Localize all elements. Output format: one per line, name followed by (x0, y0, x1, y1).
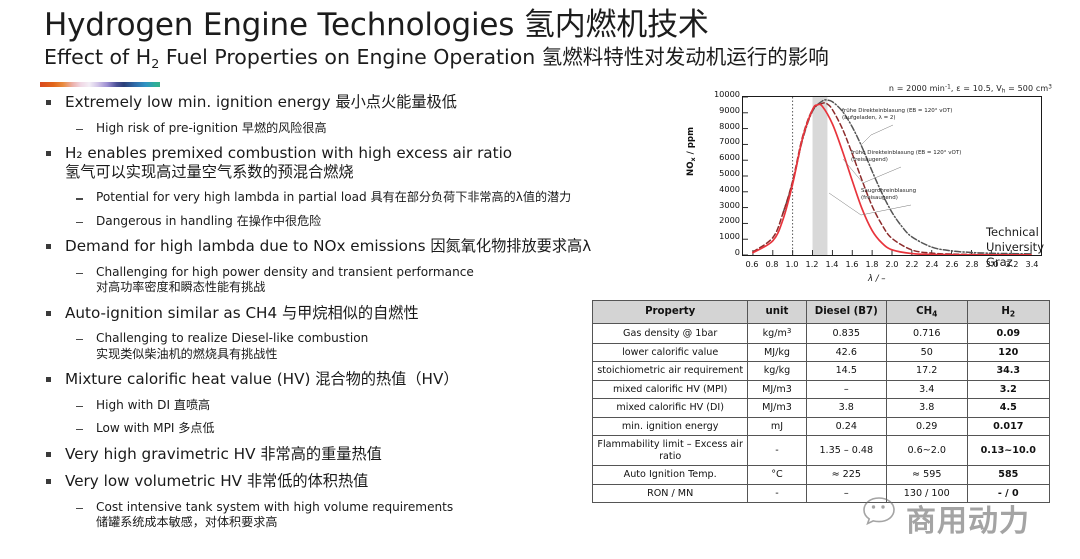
table-col-header: Property (593, 301, 748, 324)
cell-diesel: 0.835 (806, 324, 886, 343)
x-tick-label: 2.4 (925, 259, 938, 269)
cell-diesel: – (806, 484, 886, 503)
cell-diesel: ≈ 225 (806, 466, 886, 485)
annotation-line-1: frühe Direkteinblasung (EB = 120° vOT) (851, 150, 961, 157)
cell-h2: 3.2 (967, 380, 1049, 399)
tu-graz-line: Technical (986, 225, 1044, 240)
bullet-text-cn: 氢气可以实现高过量空气系数的预混合燃烧 (65, 163, 354, 181)
cell-h2: 585 (967, 466, 1049, 485)
table-col-header: Diesel (B7) (806, 301, 886, 324)
table-col-header: CH4 (886, 301, 967, 324)
x-tick-label: 1.6 (845, 259, 858, 269)
bullet-text: Very low volumetric HV 非常低的体积热值 (65, 472, 368, 490)
cell-unit: °C (748, 466, 806, 485)
bullet-item-l2: Low with MPI 多点低 (40, 421, 650, 436)
chart-operating-params: n = 2000 min-1, ε = 10.5, Vh = 500 cm3 (889, 84, 1052, 95)
cell-diesel: 1.35 – 0.48 (806, 436, 886, 466)
bullet-text: Dangerous in handling 在操作中很危险 (96, 214, 321, 228)
y-tick-label: 9000 (719, 105, 740, 115)
cell-h2: 0.017 (967, 417, 1049, 436)
cell-ch4: 17.2 (886, 362, 967, 381)
table-row: Gas density @ 1barkg/m30.8350.7160.09 (593, 324, 1050, 343)
annotation-leader-line (861, 125, 893, 145)
title-block: Hydrogen Engine Technologies 氢内燃机技术 Effe… (44, 8, 1044, 71)
annotation-line-1: frühe Direkteinblasung (EB = 120° vOT) (842, 108, 952, 115)
x-tick-label: 0.6 (745, 259, 758, 269)
cell-unit: - (748, 484, 806, 503)
x-tick-label: 2.8 (965, 259, 978, 269)
x-tick-label: 1.0 (785, 259, 798, 269)
bullet-item-l1: Demand for high lambda due to NOx emissi… (40, 237, 650, 256)
bullet-text-cn: 储罐系统成本敏感，对体积要求高 (96, 515, 277, 529)
cell-unit: MJ/m3 (748, 380, 806, 399)
bullet-text: Very high gravimetric HV 非常高的重量热值 (65, 445, 382, 463)
bullet-item-l1: Very high gravimetric HV 非常高的重量热值 (40, 445, 650, 464)
chart-y-axis-label: NOx / ppm (686, 127, 697, 176)
chart-x-axis-label: λ / – (868, 274, 886, 284)
cell-diesel: 3.8 (806, 399, 886, 418)
bullet-item-l2: Cost intensive tank system with high vol… (40, 500, 650, 531)
cell-diesel: 0.24 (806, 417, 886, 436)
cell-property: mixed calorific HV (MPI) (593, 380, 748, 399)
y-tick-label: 10000 (714, 89, 740, 99)
cell-diesel: 14.5 (806, 362, 886, 381)
bullet-text-cn: 对高功率密度和瞬态性能有挑战 (96, 280, 265, 294)
cell-ch4: 0.29 (886, 417, 967, 436)
y-tick-label: 6000 (719, 152, 740, 162)
bullet-text: H₂ enables premixed combustion with high… (65, 144, 512, 162)
table-row: Flammability limit – Excess air ratio-1.… (593, 436, 1050, 466)
y-label-pre: NO (686, 162, 696, 177)
bullet-text: Cost intensive tank system with high vol… (96, 500, 453, 514)
bullet-item-l1: Very low volumetric HV 非常低的体积热值 (40, 472, 650, 491)
bullet-text: High with DI 直喷高 (96, 398, 210, 412)
cell-h2: 120 (967, 343, 1049, 362)
annotation-line-2: (freisaugend) (861, 195, 916, 202)
bullet-text: High risk of pre-ignition 早燃的风险很高 (96, 121, 327, 135)
bullet-text: Extremely low min. ignition energy 最小点火能… (65, 93, 457, 111)
bullet-list: Extremely low min. ignition energy 最小点火能… (40, 93, 650, 539)
y-tick-label: 7000 (719, 136, 740, 146)
cell-diesel: 42.6 (806, 343, 886, 362)
page-subtitle: Effect of H2 Fuel Properties on Engine O… (44, 45, 1044, 71)
bullet-item-l2: Challenging for high power density and t… (40, 265, 650, 296)
cell-h2: 34.3 (967, 362, 1049, 381)
cell-h2: 0.13~10.0 (967, 436, 1049, 466)
bullet-text: Demand for high lambda due to NOx emissi… (65, 237, 591, 255)
y-tick-label: 4000 (719, 184, 740, 194)
chart-annotation-2: Saugrohreinblasung(freisaugend) (861, 188, 916, 203)
nox-lambda-chart: n = 2000 min-1, ε = 10.5, Vh = 500 cm3 N… (690, 84, 1058, 284)
subtitle-post: Fuel Properties on Engine Operation 氢燃料特… (159, 45, 828, 69)
shaded-lambda-band (813, 97, 828, 255)
accent-gradient-bar (40, 82, 160, 87)
x-tick-label: 1.2 (805, 259, 818, 269)
cell-unit: MJ/kg (748, 343, 806, 362)
bullet-item-l2: Dangerous in handling 在操作中很危险 (40, 214, 650, 229)
cell-h2: 4.5 (967, 399, 1049, 418)
chart-y-ticks: 1000090008000700060005000400030002000100… (700, 94, 740, 254)
cell-diesel: – (806, 380, 886, 399)
y-tick-label: 8000 (719, 121, 740, 131)
cell-property: stoichiometric air requirement (593, 362, 748, 381)
cell-unit: kg/m3 (748, 324, 806, 343)
table-col-header: unit (748, 301, 806, 324)
bullet-item-l2: High risk of pre-ignition 早燃的风险很高 (40, 121, 650, 136)
cell-property: Auto Ignition Temp. (593, 466, 748, 485)
cell-ch4: 3.8 (886, 399, 967, 418)
tu-graz-line: Graz (986, 255, 1044, 270)
bullet-text: Challenging for high power density and t… (96, 265, 474, 279)
x-tick-label: 2.6 (945, 259, 958, 269)
table-col-header: H2 (967, 301, 1049, 324)
table-row: RON / MN-–130 / 100- / 0 (593, 484, 1050, 503)
chart-annotation-0: frühe Direkteinblasung (EB = 120° vOT)(a… (842, 108, 952, 123)
x-tick-label: 1.8 (865, 259, 878, 269)
cell-property: Flammability limit – Excess air ratio (593, 436, 748, 466)
fuel-properties-table: PropertyunitDiesel (B7)CH4H2 Gas density… (592, 300, 1050, 503)
bullet-text-cn: 实现类似柴油机的燃烧具有挑战性 (96, 347, 277, 361)
cell-property: min. ignition energy (593, 417, 748, 436)
table-row: mixed calorific HV (MPI)MJ/m3–3.43.2 (593, 380, 1050, 399)
table-row: mixed calorific HV (DI)MJ/m33.83.84.5 (593, 399, 1050, 418)
bullet-item-l1: Extremely low min. ignition energy 最小点火能… (40, 93, 650, 112)
cell-property: lower calorific value (593, 343, 748, 362)
bullet-item-l1: Auto-ignition similar as CH4 与甲烷相似的自燃性 (40, 304, 650, 323)
cell-ch4: 130 / 100 (886, 484, 967, 503)
table-row: lower calorific valueMJ/kg42.650120 (593, 343, 1050, 362)
cell-unit: - (748, 436, 806, 466)
cell-property: RON / MN (593, 484, 748, 503)
tu-graz-credit: TechnicalUniversityGraz (986, 225, 1044, 270)
chart-annotation-1: frühe Direkteinblasung (EB = 120° vOT)(f… (851, 150, 961, 165)
cell-unit: mJ (748, 417, 806, 436)
cell-unit: MJ/m3 (748, 399, 806, 418)
x-tick-label: 2.2 (905, 259, 918, 269)
x-tick-label: 2.0 (885, 259, 898, 269)
y-tick-label: 1000 (719, 231, 740, 241)
cell-ch4: 0.6~2.0 (886, 436, 967, 466)
cell-property: Gas density @ 1bar (593, 324, 748, 343)
bullet-text: Mixture calorific heat value (HV) 混合物的热值… (65, 370, 459, 388)
table-header-row: PropertyunitDiesel (B7)CH4H2 (593, 301, 1050, 324)
table-row: stoichiometric air requirementkg/kg14.51… (593, 362, 1050, 381)
annotation-line-2: (freisaugend) (851, 157, 961, 164)
bullet-text: Potential for very high lambda in partia… (96, 190, 571, 204)
table-header: PropertyunitDiesel (B7)CH4H2 (593, 301, 1050, 324)
bullet-item-l1: H₂ enables premixed combustion with high… (40, 144, 650, 181)
table-row: min. ignition energymJ0.240.290.017 (593, 417, 1050, 436)
cell-ch4: 0.716 (886, 324, 967, 343)
y-label-post: / ppm (686, 127, 696, 157)
tu-graz-line: University (986, 240, 1044, 255)
y-tick-label: 5000 (719, 168, 740, 178)
cell-unit: kg/kg (748, 362, 806, 381)
y-tick-label: 0 (735, 247, 740, 257)
bullet-text: Low with MPI 多点低 (96, 421, 215, 435)
bullet-item-l1: Mixture calorific heat value (HV) 混合物的热值… (40, 370, 650, 389)
bullet-item-l2: Potential for very high lambda in partia… (40, 190, 650, 205)
cell-h2: - / 0 (967, 484, 1049, 503)
cell-ch4: ≈ 595 (886, 466, 967, 485)
cell-h2: 0.09 (967, 324, 1049, 343)
x-tick-label: 1.4 (825, 259, 838, 269)
annotation-line-1: Saugrohreinblasung (861, 188, 916, 195)
y-label-sub: x (689, 157, 697, 161)
bullet-text: Auto-ignition similar as CH4 与甲烷相似的自燃性 (65, 304, 419, 322)
y-tick-label: 3000 (719, 200, 740, 210)
table-body: Gas density @ 1barkg/m30.8350.7160.09low… (593, 324, 1050, 503)
y-tick-label: 2000 (719, 215, 740, 225)
bullet-text: Challenging to realize Diesel-like combu… (96, 331, 368, 345)
bullet-item-l2: Challenging to realize Diesel-like combu… (40, 331, 650, 362)
cell-ch4: 3.4 (886, 380, 967, 399)
table-row: Auto Ignition Temp.°C≈ 225≈ 595585 (593, 466, 1050, 485)
annotation-line-2: (aufgeladen, λ = 2) (842, 115, 952, 122)
page-title: Hydrogen Engine Technologies 氢内燃机技术 (44, 8, 1044, 43)
cell-ch4: 50 (886, 343, 967, 362)
cell-property: mixed calorific HV (DI) (593, 399, 748, 418)
bullet-item-l2: High with DI 直喷高 (40, 398, 650, 413)
subtitle-pre: Effect of H (44, 45, 151, 69)
x-tick-label: 0.8 (765, 259, 778, 269)
